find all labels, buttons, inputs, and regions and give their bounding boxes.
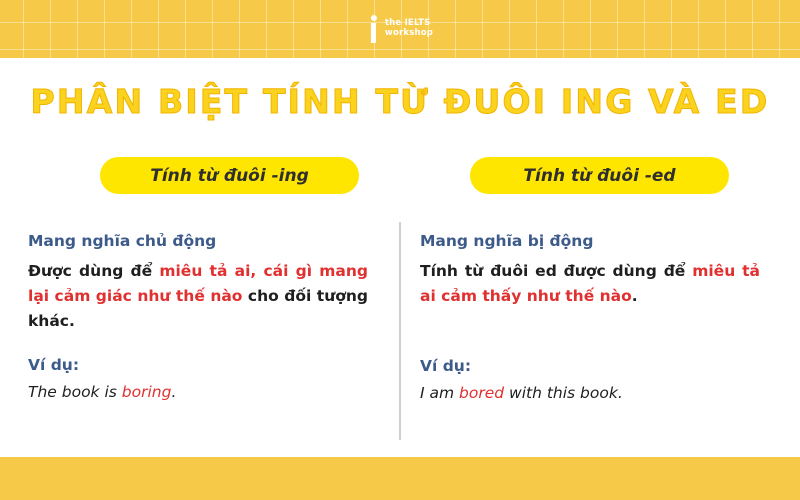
example-text-ing: The book is boring. (28, 383, 368, 401)
ielts-workshop-logo-icon: the IELTS workshop (367, 11, 433, 47)
logo-line-2: workshop (385, 29, 433, 39)
example-seg-highlight: bored (459, 384, 504, 402)
page-title: PHÂN BIỆT TÍNH TỪ ĐUÔI ING VÀ ED (0, 82, 800, 121)
example-seg: The book is (28, 383, 122, 401)
bottom-band (0, 457, 800, 500)
subheading-active-meaning: Mang nghĩa chủ động (28, 232, 368, 250)
example-text-ed: I am bored with this book. (420, 384, 760, 402)
body-seg: Được dùng để (28, 262, 159, 280)
logo-text: the IELTS workshop (385, 19, 433, 39)
infographic-page: the IELTS workshop PHÂN BIỆT TÍNH TỪ ĐUÔ… (0, 0, 800, 500)
pill-ing: Tính từ đuôi -ing (100, 157, 359, 194)
top-band: the IELTS workshop (0, 0, 800, 58)
body-seg: . (632, 287, 638, 305)
logo-dot-icon (370, 15, 376, 21)
example-seg: I am (420, 384, 459, 402)
logo-the: the (385, 18, 401, 28)
body-text-ing: Được dùng để miêu tả ai, cái gì mang lại… (28, 259, 368, 334)
body-text-ed: Tính từ đuôi ed được dùng để miêu tả ai … (420, 259, 760, 309)
pill-ed: Tính từ đuôi -ed (470, 157, 729, 194)
example-label-ed: Ví dụ: (420, 357, 760, 375)
column-divider (399, 222, 401, 440)
example-seg: . (171, 383, 176, 401)
column-ing: Mang nghĩa chủ động Được dùng để miêu tả… (28, 232, 368, 401)
logo-stem-icon (371, 23, 376, 43)
example-seg: with this book. (504, 384, 623, 402)
body-seg: Tính từ đuôi ed được dùng để (420, 262, 692, 280)
column-ed: Mang nghĩa bị động Tính từ đuôi ed được … (420, 232, 760, 402)
logo-ielts: IELTS (405, 18, 431, 28)
example-seg-highlight: boring (122, 383, 172, 401)
subheading-passive-meaning: Mang nghĩa bị động (420, 232, 760, 250)
logo-mark-icon (367, 12, 380, 46)
example-label-ing: Ví dụ: (28, 356, 368, 374)
